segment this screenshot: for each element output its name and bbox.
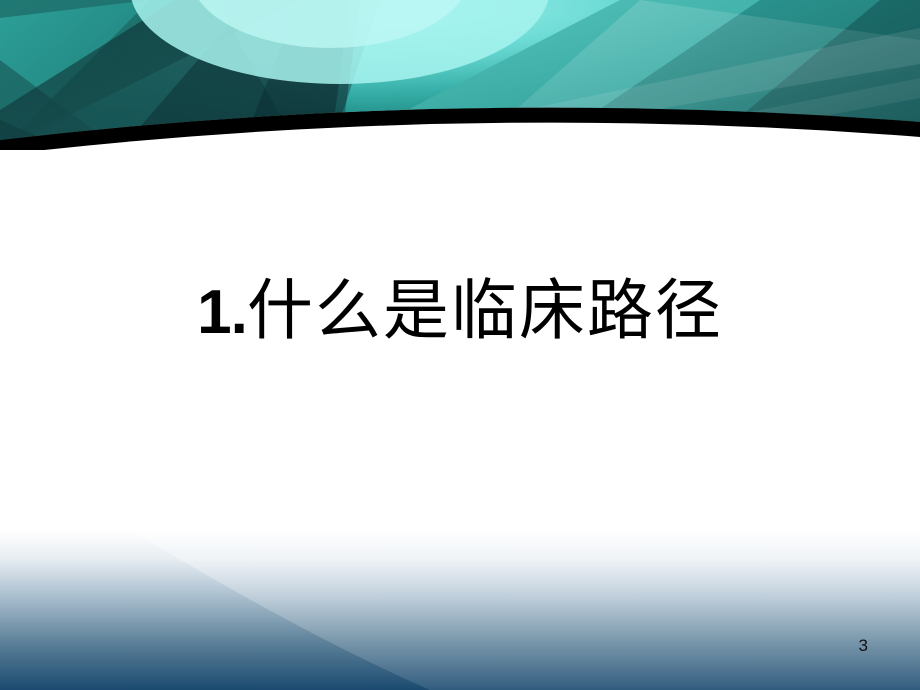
slide-banner-decoration bbox=[0, 0, 920, 150]
slide-content: 1.什么是临床路径 bbox=[0, 150, 920, 530]
title-text: 什么是临床路径 bbox=[247, 272, 723, 349]
presentation-slide: 1.什么是临床路径 3 bbox=[0, 0, 920, 690]
footer-graphic bbox=[0, 530, 920, 690]
title-number: 1. bbox=[197, 278, 247, 347]
page-number: 3 bbox=[859, 637, 868, 654]
banner-graphic bbox=[0, 0, 920, 150]
slide-footer-decoration bbox=[0, 530, 920, 690]
page-title: 1.什么是临床路径 bbox=[0, 278, 920, 344]
